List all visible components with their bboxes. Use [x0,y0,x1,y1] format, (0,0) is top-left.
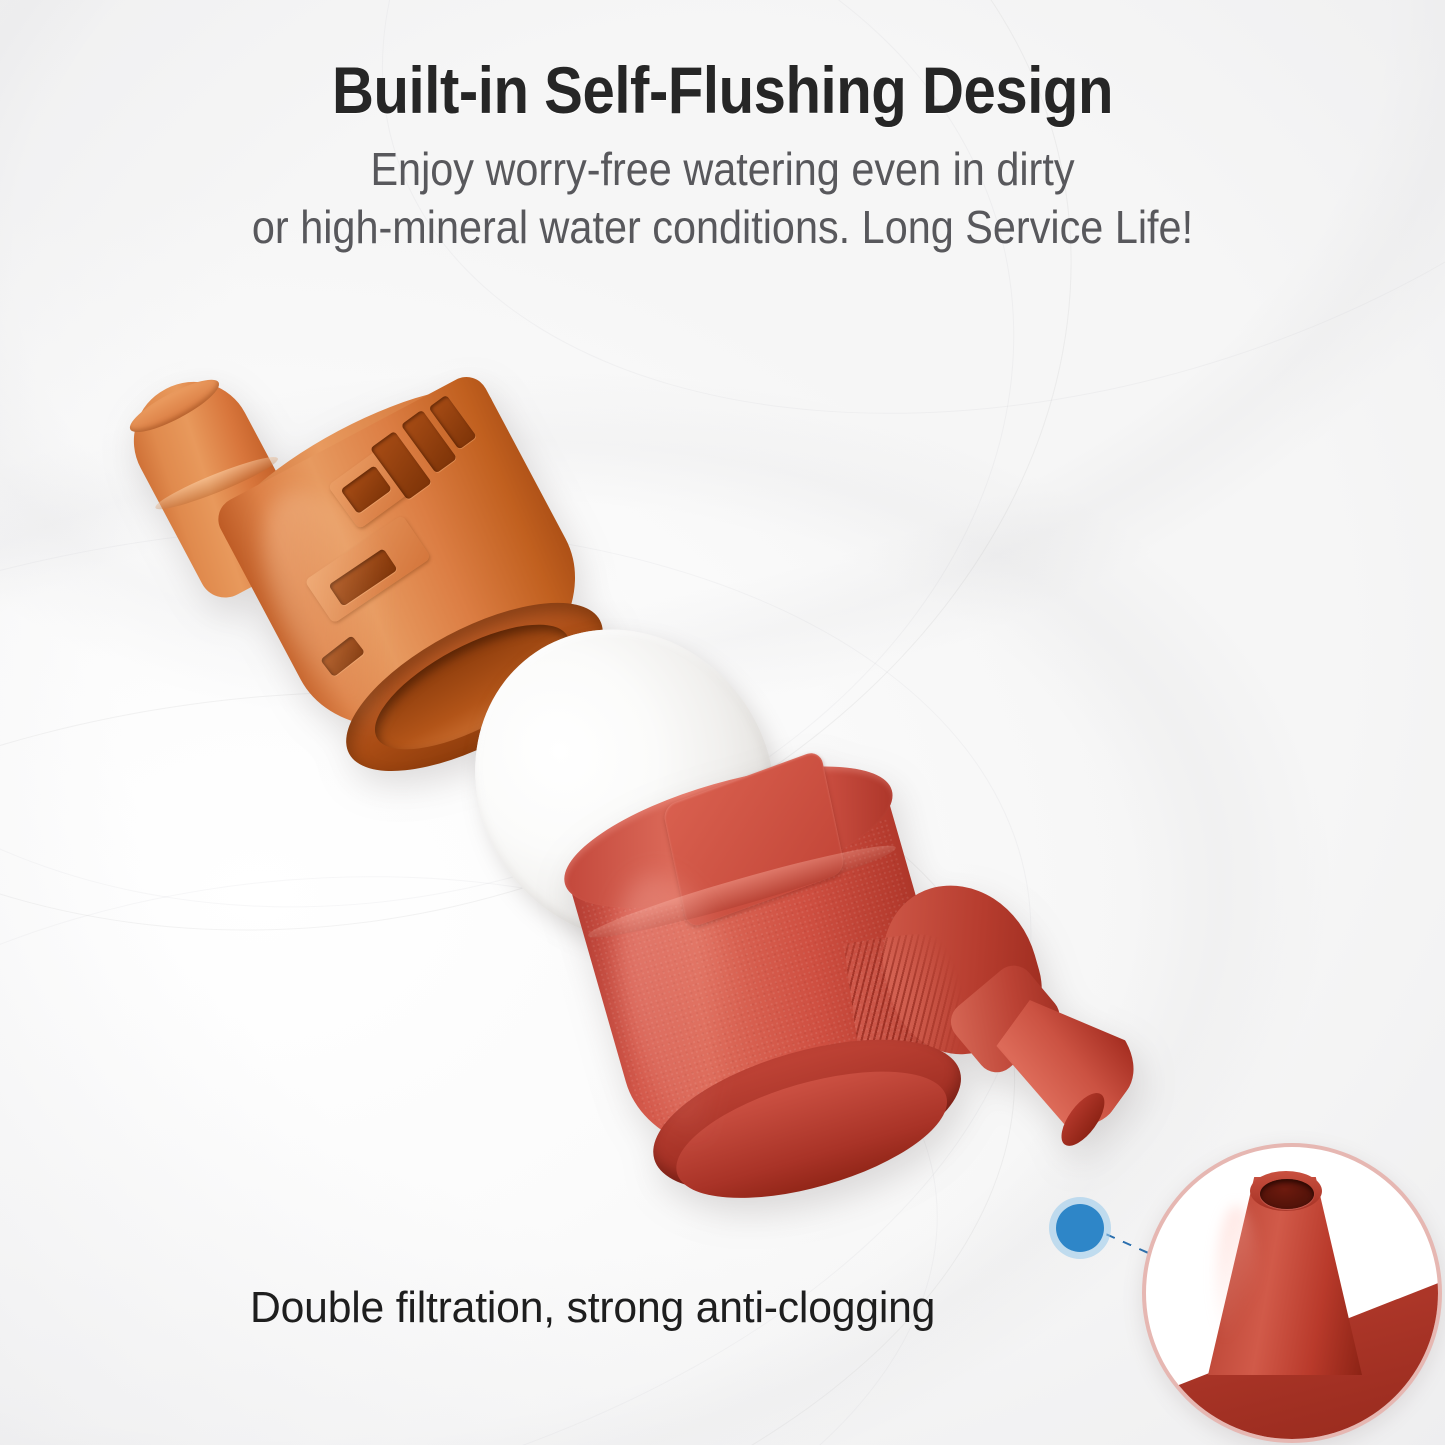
subtitle-line-1: Enjoy worry-free watering even in dirty [72,140,1373,198]
zoom-nozzle-bore-opening [1260,1179,1314,1209]
zoom-nozzle-highlight [1216,1205,1258,1355]
blue-dot-marker-icon [1056,1204,1104,1252]
product-feature-image: Built-in Self-Flushing Design Enjoy worr… [0,0,1445,1445]
red-emitter-body [590,735,1110,1265]
feature-caption: Double filtration, strong anti-clogging [250,1283,935,1333]
nozzle-zoom-detail-circle [1142,1143,1442,1443]
page-subtitle: Enjoy worry-free watering even in dirty … [72,140,1373,256]
subtitle-line-2: or high-mineral water conditions. Long S… [72,198,1373,256]
page-title: Built-in Self-Flushing Design [87,52,1359,128]
